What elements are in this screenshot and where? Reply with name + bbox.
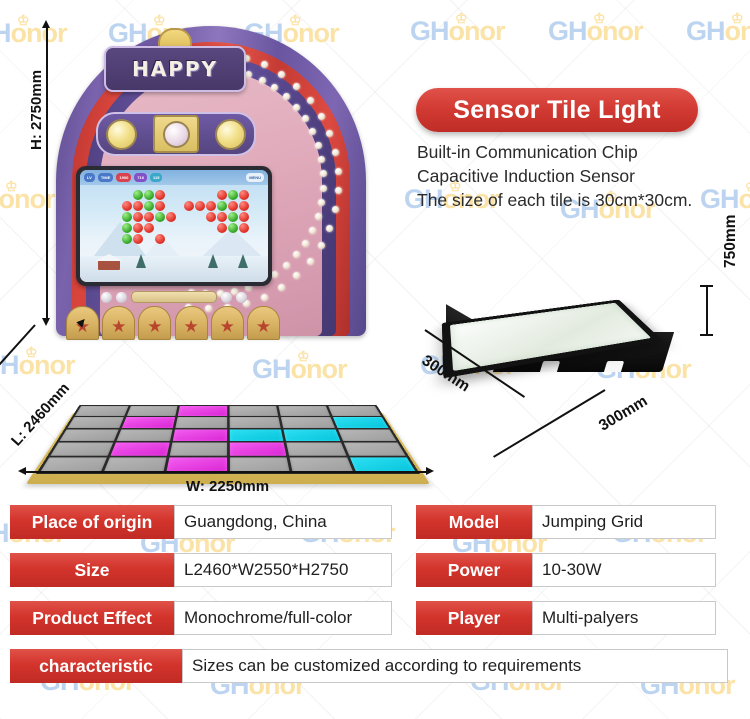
panel-dot — [116, 292, 127, 303]
spec-label-place-of-origin: Place of origin — [10, 505, 174, 539]
game-ball-red — [217, 190, 227, 200]
pine-tree — [208, 254, 218, 268]
arcade-machine-illustration: HAPPY LV TIME 1900 — [18, 18, 438, 493]
marquee-text: HAPPY — [132, 57, 218, 81]
feature-item-3: The size of each tile is 30cm*30cm. — [417, 188, 737, 212]
bulb-icon — [283, 262, 290, 269]
tile-notch — [540, 361, 560, 372]
column-gap — [392, 505, 416, 539]
sensor-tile-cell-off[interactable] — [170, 443, 227, 456]
spec-value-model: Jumping Grid — [532, 505, 716, 539]
bulb-icon — [335, 168, 342, 175]
game-ball-red — [133, 212, 143, 222]
sensor-tile-cell-off[interactable] — [116, 429, 173, 441]
ghonor-watermark: ♔GHonor — [548, 18, 643, 45]
bulb-icon — [309, 227, 316, 234]
star-panel: ★ — [247, 306, 280, 340]
game-ball-green — [144, 201, 154, 211]
star-icon: ★ — [111, 318, 126, 335]
game-ball-red — [133, 234, 143, 244]
bulb-icon — [283, 93, 290, 100]
sensor-tile-cell-off[interactable] — [50, 443, 112, 456]
watermark-text-secondary: onor — [725, 16, 750, 46]
bulb-icon — [332, 206, 339, 213]
bulb-icon — [318, 113, 325, 120]
watermark-text-primary: GH — [0, 18, 11, 48]
bulb-icon — [326, 130, 333, 137]
watermark-text-secondary: onor — [739, 184, 750, 214]
game-ball-green — [228, 190, 238, 200]
bulb-icon — [335, 187, 342, 194]
spec-value-power: 10-30W — [532, 553, 716, 587]
star-icon: ★ — [220, 318, 235, 335]
bulb-icon — [261, 61, 268, 68]
game-ball-red — [228, 201, 238, 211]
star-panel: ★ — [211, 306, 244, 340]
bulb-icon — [326, 225, 333, 232]
game-ball-red — [239, 201, 249, 211]
game-ball-red — [133, 201, 143, 211]
product-title: Sensor Tile Light — [453, 96, 660, 125]
sensor-tile-cell-off[interactable] — [343, 443, 405, 456]
bulb-icon — [278, 284, 285, 291]
panel-dot — [236, 292, 247, 303]
bulb-icon — [320, 185, 327, 192]
bulb-icon — [320, 170, 327, 177]
sensor-tile-grid — [36, 405, 420, 474]
sensor-tile-cell-magenta[interactable] — [121, 417, 175, 428]
spec-value-place-of-origin: Guangdong, China — [174, 505, 392, 539]
ghonor-watermark: ♔GHonor — [686, 18, 750, 45]
hud-score-2: 710 — [134, 173, 147, 182]
sensor-tile-cell-off[interactable] — [229, 417, 280, 428]
snow-hut — [98, 260, 120, 270]
star-icon: ★ — [183, 318, 198, 335]
specification-table: Place of origin Guangdong, China Model J… — [10, 505, 740, 697]
game-ball-red — [155, 190, 165, 200]
spec-label-power: Power — [416, 553, 532, 587]
panel-bar — [131, 291, 217, 303]
bulb-icon — [315, 142, 322, 149]
bulb-icon — [271, 84, 278, 91]
lamp-right — [215, 119, 246, 150]
pine-tree — [136, 254, 146, 268]
crown-icon: ♔ — [731, 11, 743, 25]
game-ball-red — [239, 190, 249, 200]
game-ball-red — [166, 212, 176, 222]
width-label: W: 2250mm — [186, 478, 269, 495]
crown-icon: ♔ — [455, 11, 467, 25]
bulb-icon — [271, 271, 278, 278]
game-ball-cluster — [80, 184, 268, 256]
star-panel-row: ★★★★★★ — [62, 306, 284, 340]
tile-dim-height-label: 750mm — [722, 215, 740, 268]
sensor-tile-cell-off[interactable] — [68, 417, 124, 428]
bulb-icon — [309, 128, 316, 135]
hud-level: LV — [84, 173, 95, 182]
game-ball-red — [144, 212, 154, 222]
sensor-tile-cell-off[interactable] — [59, 429, 118, 441]
sensor-tile-cell-off[interactable] — [279, 406, 330, 416]
game-ball-red — [155, 201, 165, 211]
sensor-tile-cell-cyan[interactable] — [333, 417, 389, 428]
game-ball-red — [217, 223, 227, 233]
game-ball-green — [155, 212, 165, 222]
sensor-tile-cell-cyan[interactable] — [229, 429, 283, 441]
panel-dot — [101, 292, 112, 303]
bulb-icon — [318, 242, 325, 249]
sensor-tile-cell-off[interactable] — [328, 406, 381, 416]
watermark-text-primary: GH — [686, 16, 725, 46]
watermark-text-primary: GH — [548, 16, 587, 46]
spec-value-product-effect: Monochrome/full-color — [174, 601, 392, 635]
game-ball-red — [184, 201, 194, 211]
feature-item-1: Built-in Communication Chip — [417, 140, 737, 164]
bulb-icon — [318, 156, 325, 163]
sensor-tile-cell-off[interactable] — [338, 429, 397, 441]
sensor-tile-cell-off[interactable] — [175, 417, 226, 428]
feature-item-2: Capacitive Induction Sensor — [417, 164, 737, 188]
game-ball-green — [217, 201, 227, 211]
bulb-icon — [293, 272, 300, 279]
bulb-icon — [318, 199, 325, 206]
table-row: Size L2460*W2550*H2750 Power 10-30W — [10, 553, 740, 587]
tile-notch — [604, 361, 624, 372]
control-panel-strip — [74, 290, 274, 304]
spec-label-characteristic: characteristic — [10, 649, 182, 683]
star-icon: ★ — [256, 318, 271, 335]
game-ball-red — [239, 212, 249, 222]
table-row: Place of origin Guangdong, China Model J… — [10, 505, 740, 539]
bulb-icon — [245, 71, 252, 78]
star-panel: ★ — [175, 306, 208, 340]
star-icon: ★ — [147, 318, 162, 335]
sensor-tile-cell-off[interactable] — [229, 406, 278, 416]
column-gap — [392, 601, 416, 635]
bulb-icon — [259, 77, 266, 84]
crown-icon: ♔ — [5, 179, 17, 193]
watermark-text-secondary: onor — [449, 16, 505, 46]
table-row: characteristic Sizes can be customized a… — [10, 649, 740, 683]
game-ball-green — [228, 223, 238, 233]
game-ball-green — [133, 190, 143, 200]
game-ball-green — [122, 234, 132, 244]
height-label: H: 2750mm — [28, 70, 45, 150]
spec-label-model: Model — [416, 505, 532, 539]
bulb-icon — [315, 213, 322, 220]
game-ball-red — [239, 223, 249, 233]
bulb-icon — [307, 97, 314, 104]
game-ball-red — [155, 234, 165, 244]
game-ball-red — [122, 201, 132, 211]
sensor-tile-cell-off[interactable] — [281, 417, 335, 428]
sensor-tile-cell-off[interactable] — [126, 406, 177, 416]
pine-tree — [238, 254, 248, 268]
game-ball-green — [228, 212, 238, 222]
watermark-text-primary: GH — [0, 518, 9, 548]
sensor-tile-cell-off[interactable] — [286, 443, 346, 456]
game-ball-red — [217, 212, 227, 222]
star-panel: ★ — [102, 306, 135, 340]
watermark-text-secondary: onor — [587, 16, 643, 46]
game-ball-red — [133, 223, 143, 233]
bulb-icon — [302, 115, 309, 122]
sensor-tile-cell-magenta[interactable] — [110, 443, 170, 456]
game-ball-green — [144, 190, 154, 200]
hud-time: TIME — [98, 173, 114, 182]
game-screen: LV TIME 1900 710 115 MENU — [76, 166, 272, 286]
spec-label-player: Player — [416, 601, 532, 635]
game-ball-red — [195, 201, 205, 211]
bulb-icon — [293, 251, 300, 258]
game-ball-green — [122, 223, 132, 233]
hud-score-3: 115 — [150, 173, 162, 182]
product-sheet-page: HAPPY LV TIME 1900 — [0, 0, 750, 719]
sensor-floor — [18, 318, 438, 493]
table-row: Product Effect Monochrome/full-color Pla… — [10, 601, 740, 635]
lamp-center-housing — [153, 115, 199, 153]
hud-menu: MENU — [246, 173, 264, 182]
sensor-tile-cell-magenta[interactable] — [178, 406, 227, 416]
game-ball-red — [144, 223, 154, 233]
spec-value-characteristic: Sizes can be customized according to req… — [182, 649, 728, 683]
sensor-tile-cell-cyan[interactable] — [283, 429, 340, 441]
spec-label-product-effect: Product Effect — [10, 601, 174, 635]
product-title-banner: Sensor Tile Light — [416, 88, 698, 132]
star-panel: ★ — [138, 306, 171, 340]
spec-label-size: Size — [10, 553, 174, 587]
game-ball-red — [206, 201, 216, 211]
marquee-sign: HAPPY — [104, 46, 246, 92]
column-gap — [392, 553, 416, 587]
spec-value-size: L2460*W2550*H2750 — [174, 553, 392, 587]
sensor-tile-cell-magenta[interactable] — [229, 443, 286, 456]
game-ball-green — [122, 212, 132, 222]
bulb-icon — [302, 240, 309, 247]
crown-icon: ♔ — [745, 179, 750, 193]
bulb-icon — [332, 149, 339, 156]
hud-score-1: 1900 — [116, 173, 131, 182]
game-screen-content: LV TIME 1900 710 115 MENU — [80, 170, 268, 282]
crown-icon: ♔ — [593, 11, 605, 25]
bulb-icon — [293, 104, 300, 111]
lamp-left — [106, 119, 137, 150]
bulb-icon — [307, 258, 314, 265]
bulb-icon — [278, 71, 285, 78]
lamp-center — [163, 121, 190, 148]
feature-list: Built-in Communication Chip Capacitive I… — [417, 140, 737, 212]
game-hud: LV TIME 1900 710 115 MENU — [80, 170, 268, 185]
sensor-tile-cell-magenta[interactable] — [173, 429, 227, 441]
spec-value-player: Multi-palyers — [532, 601, 716, 635]
panel-dot — [221, 292, 232, 303]
sensor-tile-cell-off[interactable] — [75, 406, 128, 416]
bulb-icon — [293, 83, 300, 90]
lamp-bar — [96, 112, 256, 156]
game-ball-red — [206, 212, 216, 222]
